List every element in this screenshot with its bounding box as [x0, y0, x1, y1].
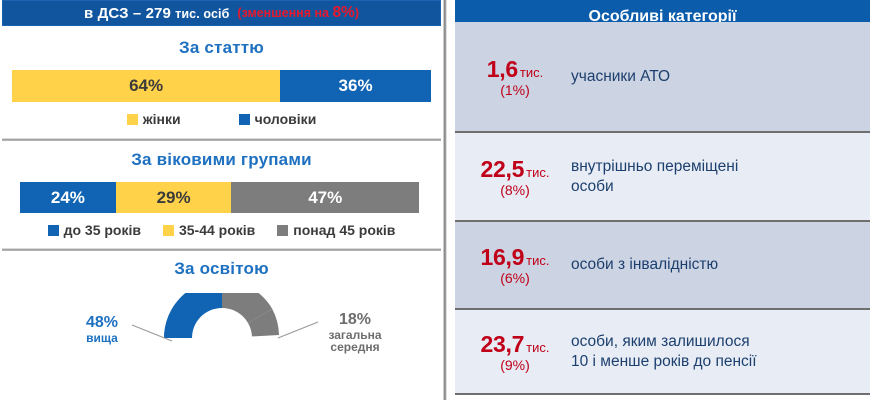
category-text-line-2: 10 і менше років до пенсії	[571, 352, 864, 372]
special-categories-panel: Особливі категорії 1,6тис. (1%) учасники…	[447, 0, 870, 400]
age-legend-item-under35: до 35 років	[48, 222, 141, 238]
age-legend-label-over45: понад 45 років	[293, 222, 395, 238]
section-divider-1	[2, 138, 441, 141]
age-bar-label-35to44: 29%	[157, 188, 191, 208]
legend-swatch-icon-men	[239, 114, 250, 125]
category-number: 23,7	[481, 331, 525, 357]
education-section-title: За освітою	[0, 259, 443, 279]
category-percent: (6%)	[459, 270, 571, 286]
category-text-ato: учасники АТО	[571, 67, 870, 87]
category-text-line-1: учасники АТО	[571, 67, 864, 87]
banner-main-value: в ДСЗ – 279	[84, 5, 175, 22]
banner-main-text: в ДСЗ – 279 тис. осіб	[84, 5, 229, 22]
gender-legend: жінки чоловіки	[0, 111, 443, 127]
category-text-line-1: особи, яким залишилося	[571, 332, 864, 352]
category-unit: тис.	[526, 165, 549, 180]
gender-legend-label-women: жінки	[143, 111, 181, 127]
donut-callout-text-higher: вища	[62, 332, 142, 345]
category-value-prepension: 23,7тис. (9%)	[455, 331, 571, 373]
age-bar-label-under35: 24%	[51, 188, 85, 208]
category-text-line-1: внутрішньо переміщені	[571, 157, 864, 177]
category-percent: (8%)	[459, 182, 571, 198]
category-text-disability: особи з інвалідністю	[571, 255, 870, 275]
gender-bar-label-men: 36%	[339, 76, 373, 96]
table-row: 1,6тис. (1%) учасники АТО	[455, 22, 870, 133]
category-text-line-1: особи з інвалідністю	[571, 255, 864, 275]
legend-swatch-icon-over45	[277, 225, 288, 236]
age-legend-item-over45: понад 45 років	[277, 222, 395, 238]
donut-callout-text-general-2: середня	[300, 341, 410, 354]
age-legend-label-under35: до 35 років	[64, 222, 141, 238]
age-bar-segment-over45: 47%	[231, 182, 419, 213]
education-section: За освітою 48%	[0, 259, 443, 341]
category-text-line-2: особи	[571, 177, 864, 197]
category-value-ato: 1,6тис. (1%)	[455, 56, 571, 98]
legend-swatch-icon-women	[127, 114, 138, 125]
category-value-idp: 22,5тис. (8%)	[455, 156, 571, 198]
category-value-line: 16,9тис.	[459, 244, 571, 271]
left-panel: в ДСЗ – 279 тис. осіб (зменшення на 8%) …	[0, 0, 443, 400]
age-legend-item-35to44: 35-44 років	[163, 222, 255, 238]
category-unit: тис.	[526, 340, 549, 355]
table-row: 23,7тис. (9%) особи, яким залишилося 10 …	[455, 310, 870, 395]
gender-bar-segment-men: 36%	[280, 70, 431, 102]
gender-stacked-bar: 64% 36%	[12, 70, 431, 102]
legend-swatch-icon-under35	[48, 225, 59, 236]
age-bar-segment-under35: 24%	[20, 182, 116, 213]
age-bar-segment-35to44: 29%	[116, 182, 232, 213]
slide-root: в ДСЗ – 279 тис. осіб (зменшення на 8%) …	[0, 0, 870, 400]
banner-note-suffix: )	[355, 6, 359, 20]
category-number: 16,9	[481, 244, 525, 270]
table-row: 16,9тис. (6%) особи з інвалідністю	[455, 222, 870, 310]
age-section-title: За віковими групами	[0, 150, 443, 170]
category-value-line: 22,5тис.	[459, 156, 571, 183]
banner-note: (зменшення на 8%)	[237, 4, 359, 22]
banner-note-value: 8%	[332, 4, 354, 21]
gender-bar-segment-women: 64%	[12, 70, 280, 102]
donut-callout-pct-higher: 48%	[62, 315, 142, 332]
donut-callout-higher-education: 48% вища	[62, 315, 142, 344]
category-number: 1,6	[487, 56, 518, 82]
gender-legend-item-women: жінки	[127, 111, 181, 127]
banner-main-unit: тис. осіб	[175, 7, 229, 21]
donut-callout-pct-general: 18%	[300, 312, 410, 329]
section-divider-2	[2, 248, 441, 251]
age-legend-label-35to44: 35-44 років	[179, 222, 255, 238]
gender-bar-label-women: 64%	[129, 76, 163, 96]
age-stacked-bar: 24% 29% 47%	[20, 182, 419, 213]
age-section: За віковими групами 24% 29% 47% до 35 ро…	[0, 150, 443, 238]
category-unit: тис.	[520, 65, 543, 80]
age-bar-label-over45: 47%	[308, 188, 342, 208]
gender-section: За статтю 64% 36% жінки чоловіки	[0, 38, 443, 127]
education-donut-chart: 48% вища 18% загальна середня	[0, 279, 443, 341]
category-percent: (9%)	[459, 357, 571, 373]
category-text-idp: внутрішньо переміщені особи	[571, 157, 870, 197]
category-text-prepension: особи, яким залишилося 10 і менше років …	[571, 332, 870, 372]
banner-note-prefix: (зменшення на	[237, 6, 332, 20]
category-percent: (1%)	[459, 82, 571, 98]
category-number: 22,5	[481, 156, 525, 182]
category-value-disability: 16,9тис. (6%)	[455, 244, 571, 286]
category-value-line: 1,6тис.	[459, 56, 571, 83]
table-row: 22,5тис. (8%) внутрішньо переміщені особ…	[455, 133, 870, 222]
category-unit: тис.	[526, 253, 549, 268]
donut-callout-general-education: 18% загальна середня	[300, 312, 410, 354]
summary-banner: в ДСЗ – 279 тис. осіб (зменшення на 8%)	[2, 0, 441, 26]
category-value-line: 23,7тис.	[459, 331, 571, 358]
special-categories-header: Особливі категорії	[455, 0, 870, 22]
special-categories-header-label: Особливі категорії	[589, 9, 737, 22]
legend-swatch-icon-35to44	[163, 225, 174, 236]
gender-legend-item-men: чоловіки	[239, 111, 317, 127]
age-legend: до 35 років 35-44 років понад 45 років	[0, 222, 443, 238]
gender-legend-label-men: чоловіки	[255, 111, 317, 127]
gender-section-title: За статтю	[0, 38, 443, 58]
